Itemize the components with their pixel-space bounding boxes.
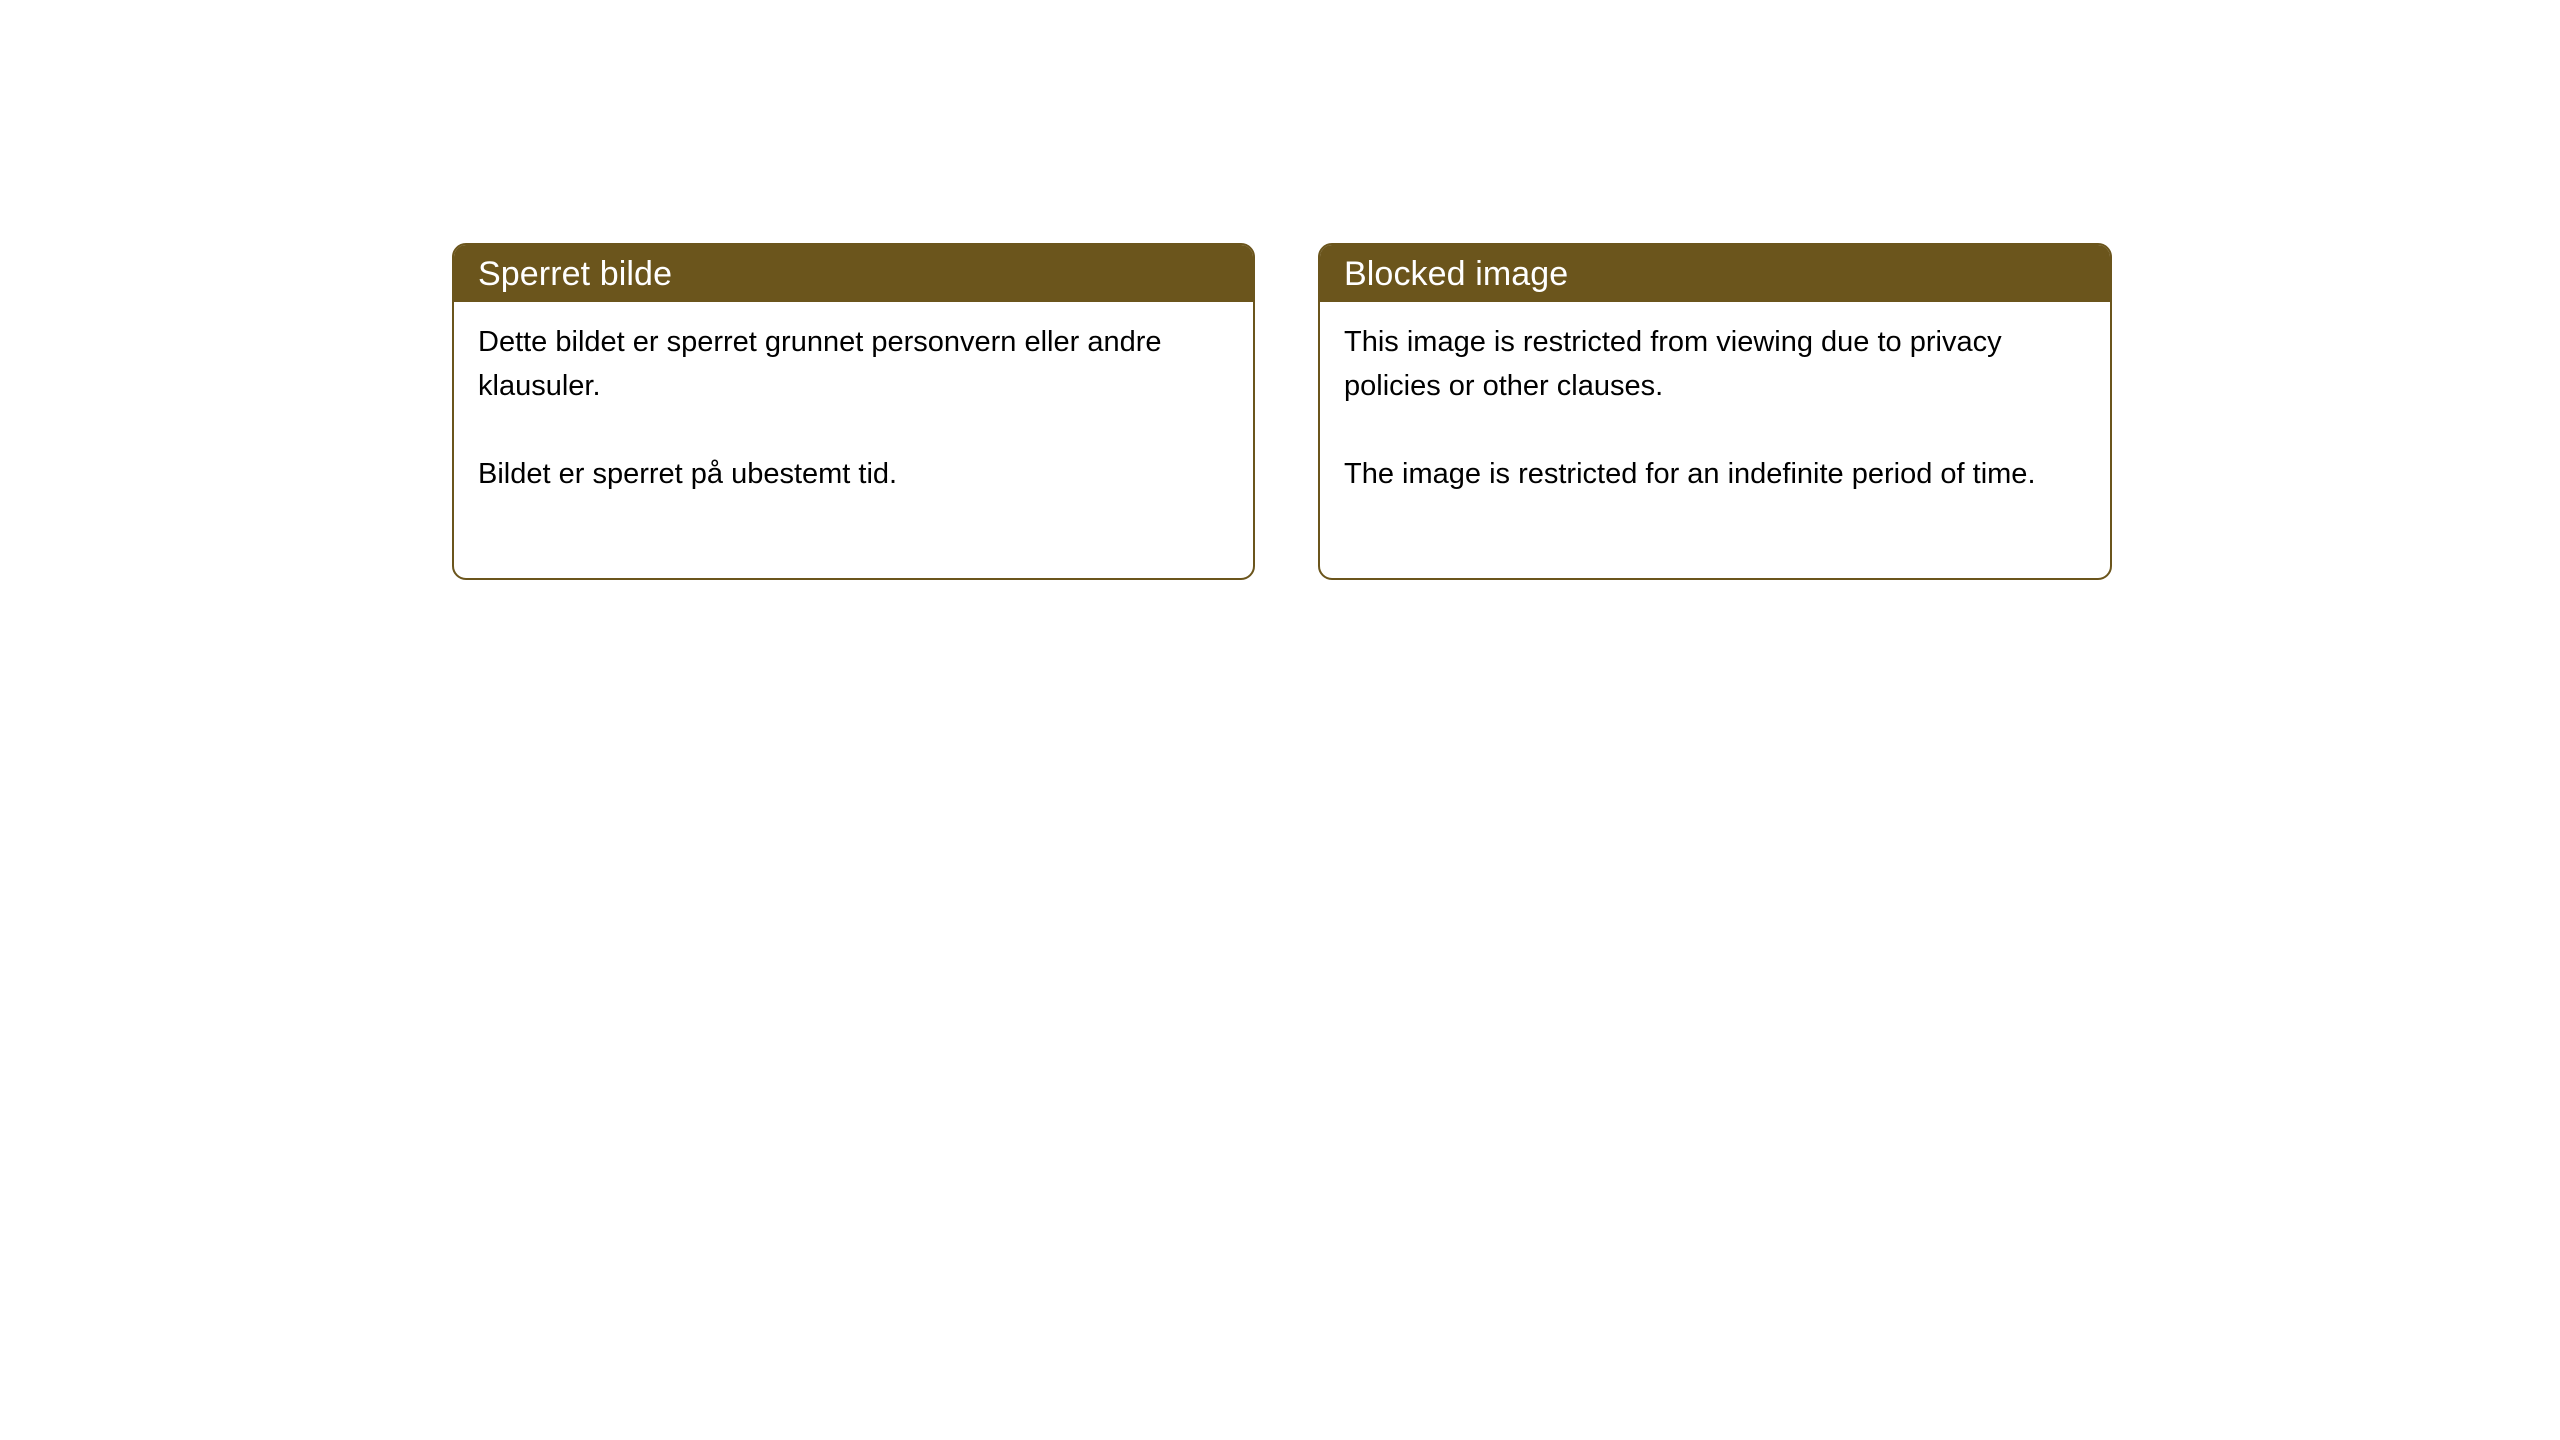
card-header-english: Blocked image (1320, 245, 2110, 302)
paragraph-spacer-norwegian (478, 408, 1229, 452)
card-paragraph-primary-english: This image is restricted from viewing du… (1344, 320, 2086, 408)
blocked-image-notice-english: Blocked image This image is restricted f… (1318, 243, 2112, 580)
card-title-norwegian: Sperret bilde (478, 254, 672, 294)
card-body-english: This image is restricted from viewing du… (1320, 302, 2110, 496)
paragraph-spacer-english (1344, 408, 2086, 452)
card-title-english: Blocked image (1344, 254, 1568, 294)
card-body-norwegian: Dette bildet er sperret grunnet personve… (454, 302, 1253, 496)
card-paragraph-primary-norwegian: Dette bildet er sperret grunnet personve… (478, 320, 1229, 408)
card-paragraph-secondary-english: The image is restricted for an indefinit… (1344, 452, 2086, 496)
card-header-norwegian: Sperret bilde (454, 245, 1253, 302)
blocked-image-notice-norwegian: Sperret bilde Dette bildet er sperret gr… (452, 243, 1255, 580)
card-paragraph-secondary-norwegian: Bildet er sperret på ubestemt tid. (478, 452, 1229, 496)
page-canvas: Sperret bilde Dette bildet er sperret gr… (0, 0, 2560, 1440)
